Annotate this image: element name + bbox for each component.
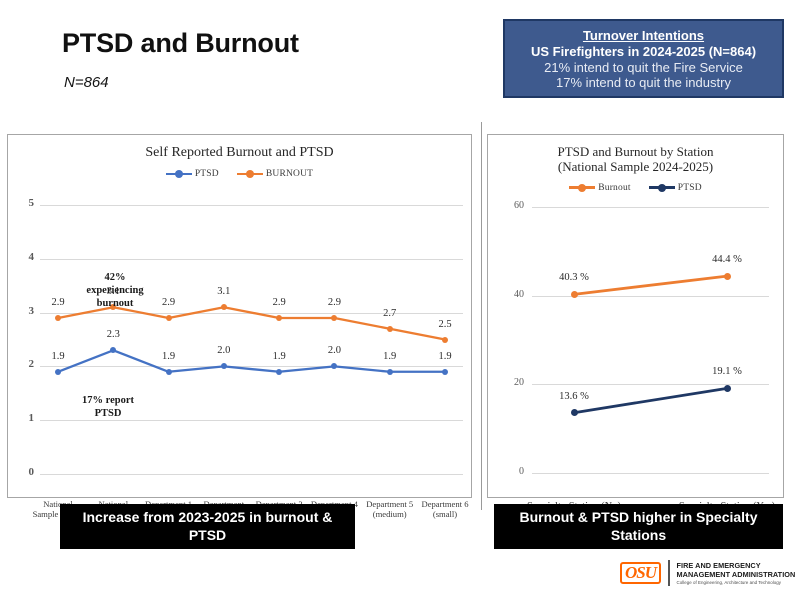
- legend-item-ptsd[interactable]: PTSD: [166, 169, 219, 179]
- data-point-ptsd[interactable]: [166, 369, 172, 375]
- data-point-burnout[interactable]: [387, 326, 393, 332]
- chart-panel-left: Self Reported Burnout and PTSD PTSDBURNO…: [7, 134, 472, 498]
- data-point-ptsd[interactable]: [55, 369, 61, 375]
- annotation-ptsd: 17% reportPTSD: [58, 394, 158, 420]
- data-point-burnout[interactable]: [724, 273, 731, 280]
- annotation-burnout: 42%experiencingburnout: [60, 271, 170, 310]
- page-title: PTSD and Burnout: [62, 28, 299, 59]
- legend-label: PTSD: [195, 169, 219, 179]
- data-label: 1.9: [143, 351, 195, 362]
- logo-line-1: FIRE AND EMERGENCY: [677, 561, 796, 570]
- callout-stat-industry: 17% intend to quit the industry: [505, 75, 782, 91]
- data-label: 2.9: [253, 297, 305, 308]
- callout-stat-fire-service: 21% intend to quit the Fire Service: [505, 60, 782, 76]
- data-point-burnout[interactable]: [442, 337, 448, 343]
- turnover-intentions-callout: Turnover Intentions US Firefighters in 2…: [503, 19, 784, 98]
- series-lines: [488, 195, 783, 497]
- data-label: 2.0: [308, 345, 360, 356]
- data-label: 2.7: [364, 308, 416, 319]
- data-label: 13.6 %: [548, 391, 600, 402]
- left-chart-legend: PTSDBURNOUT: [8, 169, 471, 179]
- legend-swatch-icon: [649, 183, 675, 192]
- series-lines: [8, 191, 471, 496]
- callout-subheading: US Firefighters in 2024-2025 (N=864): [505, 44, 782, 60]
- data-label: 2.5: [419, 319, 471, 330]
- data-label: 19.1 %: [701, 366, 753, 377]
- legend-item-ptsd[interactable]: PTSD: [649, 183, 702, 193]
- data-point-ptsd[interactable]: [387, 369, 393, 375]
- legend-label: Burnout: [598, 183, 631, 193]
- data-label: 1.9: [32, 351, 84, 362]
- logo-text-block: FIRE AND EMERGENCY MANAGEMENT ADMINISTRA…: [677, 561, 796, 585]
- legend-swatch-icon: [166, 170, 192, 179]
- data-point-ptsd[interactable]: [442, 369, 448, 375]
- data-label: 3.1: [198, 286, 250, 297]
- chart-panel-right: PTSD and Burnout by Station (National Sa…: [487, 134, 784, 498]
- slide-canvas: PTSD and Burnout N=864 Turnover Intentio…: [0, 0, 800, 600]
- right-chart-title-line1: PTSD and Burnout by Station: [488, 145, 783, 160]
- left-chart-plot-area: 0123451.92.31.92.01.92.01.91.92.93.12.93…: [8, 191, 471, 496]
- x-axis-tick-label: Department 6 (small): [417, 500, 473, 520]
- legend-label: PTSD: [678, 183, 702, 193]
- data-label: 2.3: [87, 329, 139, 340]
- legend-swatch-icon: [569, 183, 595, 192]
- logo-line-2: MANAGEMENT ADMINISTRATION: [677, 570, 796, 579]
- legend-item-burnout[interactable]: Burnout: [569, 183, 631, 193]
- right-chart-title: PTSD and Burnout by Station (National Sa…: [488, 145, 783, 175]
- data-label: 1.9: [253, 351, 305, 362]
- banner-left: Increase from 2023-2025 in burnout & PTS…: [60, 504, 355, 549]
- callout-heading: Turnover Intentions: [505, 28, 782, 44]
- osu-logo: OSU FIRE AND EMERGENCY MANAGEMENT ADMINI…: [620, 560, 795, 586]
- panel-divider: [481, 122, 482, 510]
- right-chart-title-line2: (National Sample 2024-2025): [488, 160, 783, 175]
- data-point-ptsd[interactable]: [571, 409, 578, 416]
- right-chart-legend: BurnoutPTSD: [488, 183, 783, 193]
- data-point-ptsd[interactable]: [276, 369, 282, 375]
- legend-swatch-icon: [237, 170, 263, 179]
- data-point-burnout[interactable]: [55, 315, 61, 321]
- data-label: 1.9: [419, 351, 471, 362]
- osu-brand-mark: OSU: [620, 562, 661, 585]
- data-point-burnout[interactable]: [166, 315, 172, 321]
- data-label: 44.4 %: [701, 254, 753, 265]
- data-label: 2.0: [198, 345, 250, 356]
- data-label: 1.9: [364, 351, 416, 362]
- banner-right: Burnout & PTSD higher in Specialty Stati…: [494, 504, 783, 549]
- data-label: 2.9: [308, 297, 360, 308]
- data-label: 40.3 %: [548, 272, 600, 283]
- legend-label: BURNOUT: [266, 169, 313, 179]
- right-chart-plot-area: 020406040.3 %44.4 %13.6 %19.1 %: [488, 195, 783, 497]
- x-axis-tick-label: Department 5 (medium): [362, 500, 418, 520]
- data-point-burnout[interactable]: [571, 291, 578, 298]
- page-subtitle: N=864: [64, 74, 109, 91]
- data-point-ptsd[interactable]: [724, 385, 731, 392]
- logo-divider: [668, 560, 670, 586]
- left-chart-title: Self Reported Burnout and PTSD: [8, 145, 471, 161]
- logo-line-3: College of Engineering, Architecture and…: [677, 580, 796, 585]
- legend-item-burnout[interactable]: BURNOUT: [237, 169, 313, 179]
